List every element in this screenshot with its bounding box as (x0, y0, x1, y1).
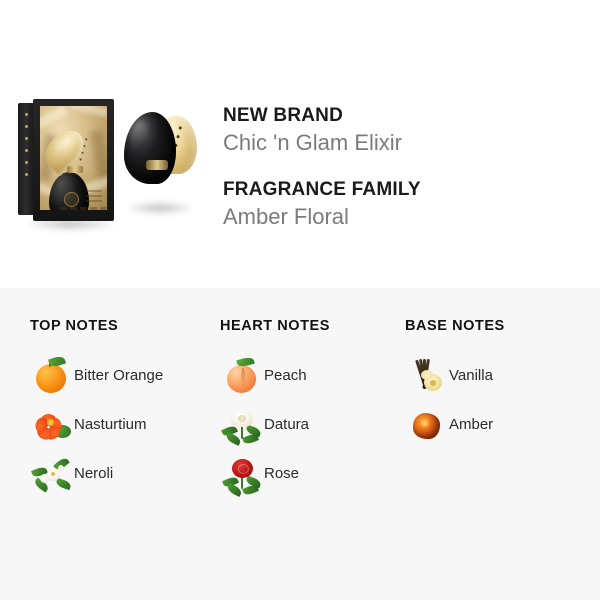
white-datura-flower-icon (220, 403, 264, 447)
note-label: Neroli (74, 465, 113, 482)
note-item: Vanilla (405, 351, 600, 400)
brand-name: Chic 'n Glam Elixir (223, 129, 583, 157)
note-label: Peach (264, 367, 307, 384)
note-item: Nasturtium (30, 400, 220, 449)
heart-notes-title: HEART NOTES (220, 288, 405, 351)
hero-section: NEW BRAND Chic 'n Glam Elixir FRAGRANCE … (0, 0, 600, 288)
fragrance-family-value: Amber Floral (223, 203, 583, 231)
peach-icon (220, 354, 264, 398)
note-label: Datura (264, 416, 309, 433)
orange-icon (30, 354, 74, 398)
gift-box-satin-lining (40, 106, 107, 210)
boxed-heart-bottle (49, 128, 101, 188)
hibiscus-flower-icon (30, 403, 74, 447)
box-emblem (64, 192, 79, 207)
white-blossom-icon (30, 452, 74, 496)
heart-perfume-bottle (122, 108, 200, 204)
box-side-caption-text (86, 190, 102, 202)
bottle-logo-crest (67, 166, 83, 173)
note-item: Rose (220, 449, 405, 498)
product-image (14, 96, 210, 246)
note-item: Amber (405, 400, 600, 449)
brand-block: NEW BRAND Chic 'n Glam Elixir (223, 104, 583, 157)
gift-box-frame (33, 99, 114, 221)
note-item: Peach (220, 351, 405, 400)
fragrance-notes-panel: TOP NOTES Bitter Orange (0, 288, 600, 600)
note-label: Amber (449, 416, 493, 433)
red-rose-icon (220, 452, 264, 496)
vanilla-pods-icon (405, 354, 449, 398)
note-label: Nasturtium (74, 416, 147, 433)
base-notes-column: BASE NOTES Vanilla Amber (405, 288, 600, 498)
note-item: Bitter Orange (30, 351, 220, 400)
fragrance-family-block: FRAGRANCE FAMILY Amber Floral (223, 178, 583, 231)
top-notes-column: TOP NOTES Bitter Orange (0, 288, 220, 498)
bottle-logo-crest (146, 160, 168, 170)
amber-resin-icon (405, 403, 449, 447)
notes-columns: TOP NOTES Bitter Orange (0, 288, 600, 498)
gift-box (18, 99, 114, 221)
hero-text-block: NEW BRAND Chic 'n Glam Elixir FRAGRANCE … (223, 104, 583, 231)
note-label: Bitter Orange (74, 367, 163, 384)
note-item: Datura (220, 400, 405, 449)
gift-box-studs (25, 113, 28, 187)
fragrance-family-label: FRAGRANCE FAMILY (223, 178, 583, 202)
base-notes-title: BASE NOTES (405, 288, 600, 351)
top-notes-title: TOP NOTES (30, 288, 220, 351)
note-item: Neroli (30, 449, 220, 498)
brand-label: NEW BRAND (223, 104, 583, 128)
note-label: Vanilla (449, 367, 493, 384)
box-caption-text (60, 207, 106, 210)
note-label: Rose (264, 465, 299, 482)
heart-notes-column: HEART NOTES Peach (220, 288, 405, 498)
